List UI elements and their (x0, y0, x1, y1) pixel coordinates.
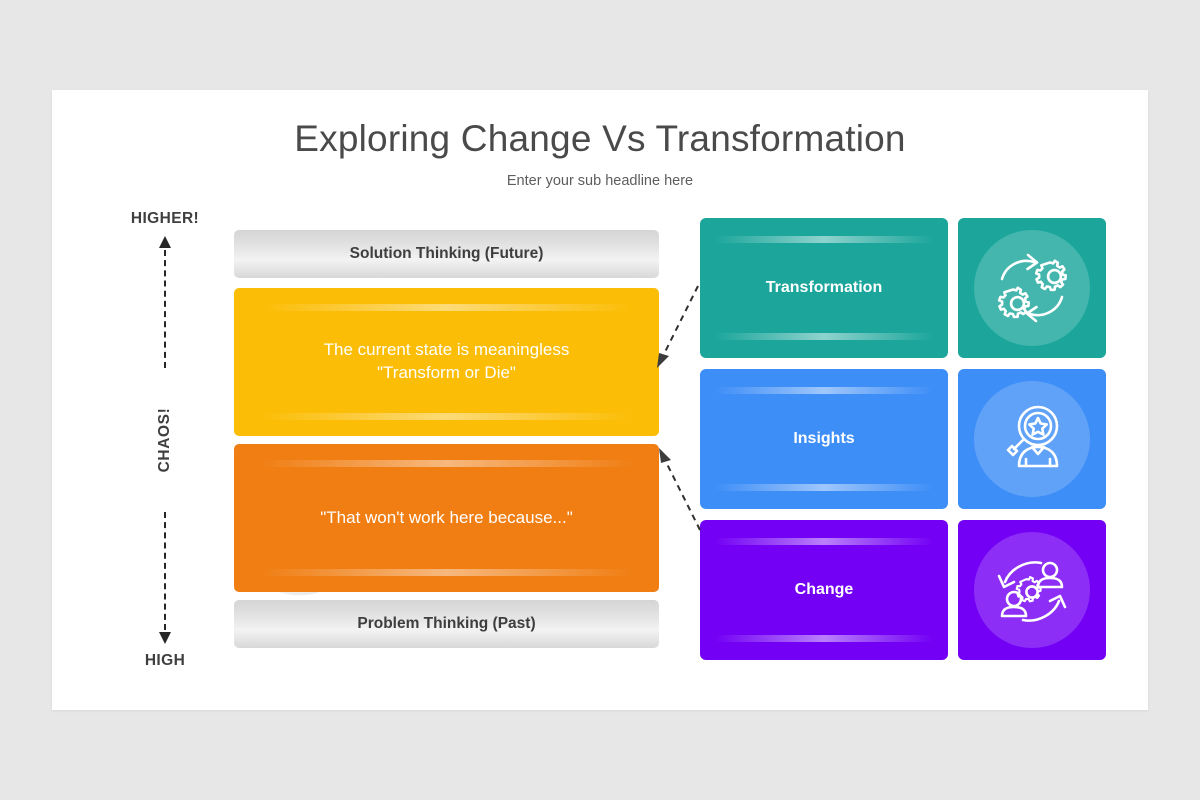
axis-dashed-segment-top (164, 250, 166, 368)
card-transformation-label-panel[interactable]: Transformation (700, 218, 948, 358)
card-transformation[interactable]: Transformation (700, 218, 1106, 358)
axis-dashed-segment-bottom (164, 512, 166, 630)
bar-solution-thinking[interactable]: Solution Thinking (Future) (234, 230, 659, 278)
bar-problem-thinking-label: Problem Thinking (Past) (341, 615, 551, 633)
card-transformation-label: Transformation (766, 279, 882, 297)
card-insights-label: Insights (793, 430, 854, 448)
bar-solution-thinking-label: Solution Thinking (Future) (334, 245, 560, 263)
icon-disc (974, 381, 1090, 497)
axis-label-chaos: CHAOS! (156, 408, 174, 473)
gears-cycle-icon (993, 249, 1071, 327)
people-gear-arrows-icon (993, 551, 1071, 629)
axis-line: CHAOS! (100, 236, 230, 644)
arrow-up-icon (159, 236, 171, 248)
chaos-axis: HIGHER! CHAOS! HIGH (100, 210, 230, 670)
card-change-label-panel[interactable]: Change (700, 520, 948, 660)
person-magnifier-star-icon (993, 400, 1071, 478)
bar-transform-or-die-line1: The current state is meaningless (324, 340, 570, 359)
connector-transformation-to-yellow (657, 286, 698, 368)
concept-cards: Transformation (700, 218, 1106, 670)
card-change[interactable]: Change (700, 520, 1106, 660)
axis-label-higher: HIGHER! (100, 210, 230, 228)
arrow-down-icon (159, 632, 171, 644)
connector-change-to-orange (659, 448, 700, 530)
bar-transform-or-die-line2: "Transform or Die" (377, 363, 516, 382)
bar-problem-thinking[interactable]: Problem Thinking (Past) (234, 600, 659, 648)
page-subtitle: Enter your sub headline here (52, 173, 1148, 189)
bar-wont-work-here-label: "That won't work here because..." (304, 507, 589, 530)
card-transformation-icon-panel[interactable] (958, 218, 1106, 358)
card-change-label: Change (795, 581, 854, 599)
card-change-icon-panel[interactable] (958, 520, 1106, 660)
slide-canvas: Exploring Change Vs Transformation Enter… (52, 90, 1148, 710)
icon-disc (974, 230, 1090, 346)
bar-wont-work-here[interactable]: "That won't work here because..." (234, 444, 659, 592)
thinking-ladder: Solution Thinking (Future) The current s… (234, 230, 659, 650)
icon-disc (974, 532, 1090, 648)
card-insights-icon-panel[interactable] (958, 369, 1106, 509)
bar-transform-or-die-label: The current state is meaningless "Transf… (308, 339, 586, 385)
card-insights[interactable]: Insights (700, 369, 1106, 509)
card-insights-label-panel[interactable]: Insights (700, 369, 948, 509)
bar-transform-or-die[interactable]: The current state is meaningless "Transf… (234, 288, 659, 436)
axis-label-high: HIGH (100, 652, 230, 670)
page-title: Exploring Change Vs Transformation (52, 118, 1148, 160)
